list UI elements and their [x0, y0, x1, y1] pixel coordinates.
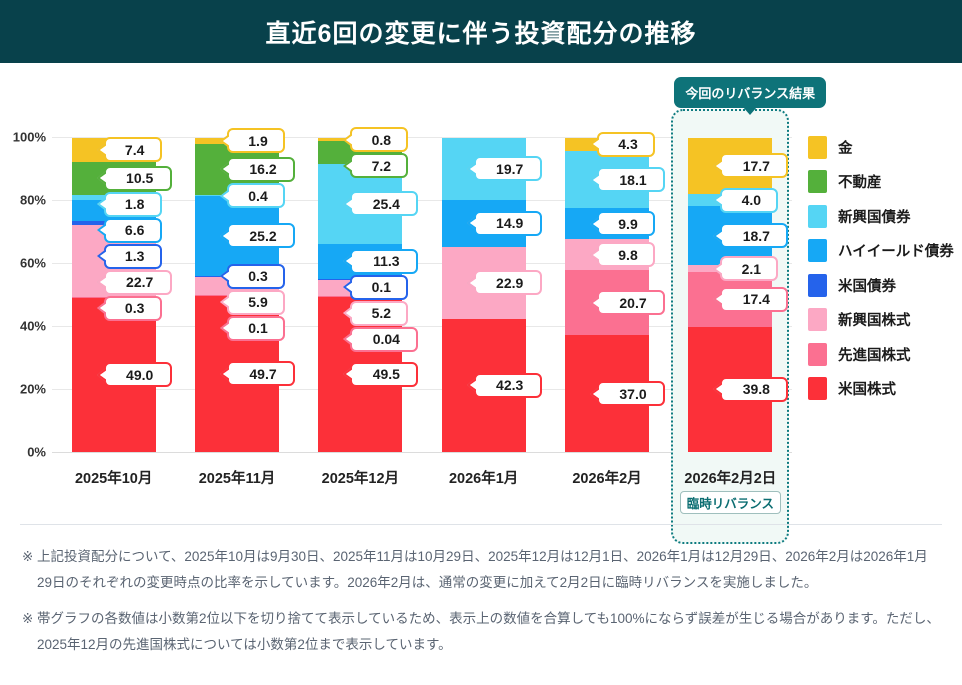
value-callout: 42.3: [474, 373, 542, 398]
callout-notch: [467, 378, 476, 392]
value-callout: 4.3: [597, 132, 655, 157]
callout-notch-inner: [716, 231, 723, 241]
legend-label: 新興国債券: [838, 206, 911, 227]
legend-item[interactable]: 新興国株式: [808, 303, 958, 338]
callout-notch-inner: [470, 164, 477, 174]
footnote-text: 上記投資配分について、2025年10月は9月30日、2025年11月は10月29…: [37, 549, 928, 590]
callout-notch: [343, 332, 352, 346]
y-axis: 0%20%40%60%80%100%: [0, 63, 52, 518]
y-axis-tick-label: 80%: [20, 193, 46, 208]
callout-notch: [343, 254, 352, 268]
callout-notch-inner: [470, 218, 477, 228]
y-axis-tick-label: 40%: [20, 319, 46, 334]
callout-notch: [97, 368, 106, 382]
value-callout: 6.6: [104, 218, 162, 243]
callout-notch: [97, 143, 106, 157]
callout-notch: [590, 248, 599, 262]
callout-notch-inner: [593, 250, 600, 260]
callout-notch: [467, 216, 476, 230]
footer-divider: [20, 524, 942, 525]
callout-notch-inner: [223, 164, 230, 174]
chart-page: 直近6回の変更に伴う投資配分の推移 0%20%40%60%80%100% 今回の…: [0, 0, 962, 685]
callout-notch-inner: [593, 389, 600, 399]
callout-notch: [713, 159, 722, 173]
value-callout: 4.0: [720, 188, 778, 213]
callout-notch: [220, 321, 229, 335]
value-callout: 9.9: [597, 211, 655, 236]
x-axis-tick-label: 2025年10月: [54, 467, 174, 488]
footnote-mark: ※: [22, 606, 33, 632]
callout-notch: [467, 162, 476, 176]
value-callout: 0.8: [350, 127, 408, 152]
callout-notch-inner: [223, 136, 230, 146]
callout-notch: [343, 159, 352, 173]
callout-notch: [467, 276, 476, 290]
callout-notch: [590, 296, 599, 310]
value-callout: 0.4: [227, 183, 285, 208]
callout-notch-inner: [223, 297, 230, 307]
callout-notch: [220, 295, 229, 309]
callout-notch-inner: [716, 195, 723, 205]
callout-notch: [713, 382, 722, 396]
callout-notch: [220, 229, 229, 243]
value-callout: 1.8: [104, 192, 162, 217]
callout-notch-inner: [716, 294, 723, 304]
callout-notch: [220, 269, 229, 283]
callout-notch-inner: [223, 231, 230, 241]
callout-notch: [713, 229, 722, 243]
callout-notch: [590, 217, 599, 231]
callout-notch: [97, 275, 106, 289]
callout-notch-inner: [593, 298, 600, 308]
callout-notch: [713, 262, 722, 276]
callout-notch-inner: [346, 135, 353, 145]
callout-notch: [97, 197, 106, 211]
value-callout: 5.9: [227, 290, 285, 315]
value-callout: 25.4: [350, 191, 418, 216]
value-callout: 14.9: [474, 211, 542, 236]
callout-notch: [590, 137, 599, 151]
callout-notch-inner: [470, 278, 477, 288]
callout-notch-inner: [716, 264, 723, 274]
value-callout: 0.1: [350, 275, 408, 300]
callout-notch-inner: [716, 161, 723, 171]
value-callout: 1.9: [227, 128, 285, 153]
callout-notch: [220, 367, 229, 381]
legend-item[interactable]: 先進国株式: [808, 337, 958, 372]
legend-label: 先進国株式: [838, 344, 911, 365]
x-axis-tick-label: 2026年2月: [547, 467, 667, 488]
y-axis-tick-label: 20%: [20, 382, 46, 397]
rebalance-result-badge: 今回のリバランス結果: [674, 77, 826, 108]
callout-notch: [590, 387, 599, 401]
value-callout: 7.4: [104, 137, 162, 162]
x-axis-tick-label: 2025年12月: [300, 467, 420, 488]
callout-notch: [343, 367, 352, 381]
callout-notch-inner: [470, 380, 477, 390]
value-callout: 9.8: [597, 242, 655, 267]
value-callout: 0.1: [227, 316, 285, 341]
temporary-rebalance-tag: 臨時リバランス: [680, 491, 781, 514]
value-callout: 10.5: [104, 166, 172, 191]
callout-notch-inner: [100, 173, 107, 183]
value-callout: 18.1: [597, 167, 665, 192]
callout-notch-inner: [100, 303, 107, 313]
legend-item[interactable]: 米国株式: [808, 372, 958, 407]
callout-notch: [97, 301, 106, 315]
legend-swatch: [808, 170, 827, 193]
legend-swatch: [808, 274, 827, 297]
callout-notch-inner: [346, 256, 353, 266]
callout-notch-inner: [100, 251, 107, 261]
callout-notch-inner: [223, 191, 230, 201]
legend-item[interactable]: 不動産: [808, 165, 958, 200]
chart-legend: 金不動産新興国債券ハイイールド債券米国債券新興国株式先進国株式米国株式: [808, 130, 958, 406]
value-callout: 7.2: [350, 153, 408, 178]
callout-notch-inner: [716, 384, 723, 394]
value-callout: 49.7: [227, 361, 295, 386]
callout-notch: [97, 223, 106, 237]
value-callout: 25.2: [227, 223, 295, 248]
legend-item[interactable]: ハイイールド債券: [808, 234, 958, 269]
callout-notch-inner: [593, 175, 600, 185]
value-callout: 17.4: [720, 287, 788, 312]
y-axis-tick-label: 0%: [27, 445, 46, 460]
value-callout: 39.8: [720, 377, 788, 402]
value-callout: 22.9: [474, 270, 542, 295]
value-callout: 18.7: [720, 223, 788, 248]
value-callout: 0.04: [350, 327, 418, 352]
callout-notch: [97, 171, 106, 185]
x-axis-sublabel: 臨時リバランス: [670, 491, 790, 514]
callout-notch-inner: [100, 199, 107, 209]
value-callout: 1.3: [104, 244, 162, 269]
value-callout: 20.7: [597, 290, 665, 315]
callout-notch-inner: [223, 369, 230, 379]
callout-notch-inner: [100, 370, 107, 380]
callout-notch-inner: [223, 271, 230, 281]
callout-notch-inner: [223, 323, 230, 333]
value-callout: 22.7: [104, 270, 172, 295]
footnote-mark: ※: [22, 544, 33, 570]
value-callout: 17.7: [720, 153, 788, 178]
callout-notch: [220, 189, 229, 203]
callout-notch: [713, 193, 722, 207]
callout-notch: [713, 292, 722, 306]
footnote: ※上記投資配分について、2025年10月は9月30日、2025年11月は10月2…: [22, 544, 942, 597]
callout-notch: [220, 162, 229, 176]
legend-swatch: [808, 343, 827, 366]
y-axis-tick-label: 60%: [20, 256, 46, 271]
callout-notch: [220, 134, 229, 148]
legend-label: 米国債券: [838, 275, 896, 296]
legend-label: 新興国株式: [838, 309, 911, 330]
legend-item[interactable]: 新興国債券: [808, 199, 958, 234]
value-callout: 19.7: [474, 156, 542, 181]
footnote: ※帯グラフの各数値は小数第2位以下を切り捨てて表示しているため、表示上の数値を合…: [22, 606, 942, 659]
footnote-text: 帯グラフの各数値は小数第2位以下を切り捨てて表示しているため、表示上の数値を合算…: [37, 611, 940, 652]
callout-notch: [343, 280, 352, 294]
x-axis-tick-label: 2026年2月2日: [670, 467, 790, 488]
value-callout: 49.5: [350, 362, 418, 387]
legend-item[interactable]: 金: [808, 130, 958, 165]
legend-label: 金: [838, 137, 853, 158]
callout-notch-inner: [100, 145, 107, 155]
callout-notch-inner: [593, 219, 600, 229]
y-axis-tick-label: 100%: [13, 130, 46, 145]
legend-label: ハイイールド債券: [838, 240, 954, 261]
callout-notch-inner: [593, 139, 600, 149]
footnotes: ※上記投資配分について、2025年10月は9月30日、2025年11月は10月2…: [22, 544, 942, 667]
x-axis-tick-label: 2026年1月: [424, 467, 544, 488]
value-callout: 16.2: [227, 157, 295, 182]
callout-notch: [97, 249, 106, 263]
value-callout: 2.1: [720, 256, 778, 281]
value-callout: 0.3: [104, 296, 162, 321]
page-title-bar: 直近6回の変更に伴う投資配分の推移: [0, 0, 962, 63]
x-axis-tick-label: 2025年11月: [177, 467, 297, 488]
callout-notch: [343, 133, 352, 147]
legend-label: 米国株式: [838, 378, 896, 399]
callout-notch-inner: [100, 277, 107, 287]
value-callout: 37.0: [597, 381, 665, 406]
callout-notch-inner: [346, 334, 353, 344]
plot-area: 今回のリバランス結果7.410.51.86.61.322.70.349.0202…: [52, 63, 792, 518]
page-title: 直近6回の変更に伴う投資配分の推移: [266, 14, 697, 50]
legend-swatch: [808, 377, 827, 400]
callout-notch-inner: [346, 282, 353, 292]
callout-notch-inner: [346, 369, 353, 379]
callout-notch-inner: [346, 199, 353, 209]
callout-notch: [343, 306, 352, 320]
legend-label: 不動産: [838, 171, 882, 192]
legend-swatch: [808, 239, 827, 262]
value-callout: 49.0: [104, 362, 172, 387]
value-callout: 11.3: [350, 249, 418, 274]
legend-swatch: [808, 205, 827, 228]
legend-swatch: [808, 308, 827, 331]
callout-notch: [343, 197, 352, 211]
callout-notch-inner: [346, 308, 353, 318]
legend-swatch: [808, 136, 827, 159]
value-callout: 0.3: [227, 264, 285, 289]
callout-notch-inner: [100, 225, 107, 235]
legend-item[interactable]: 米国債券: [808, 268, 958, 303]
callout-notch: [590, 173, 599, 187]
callout-notch-inner: [346, 161, 353, 171]
value-callout: 5.2: [350, 301, 408, 326]
